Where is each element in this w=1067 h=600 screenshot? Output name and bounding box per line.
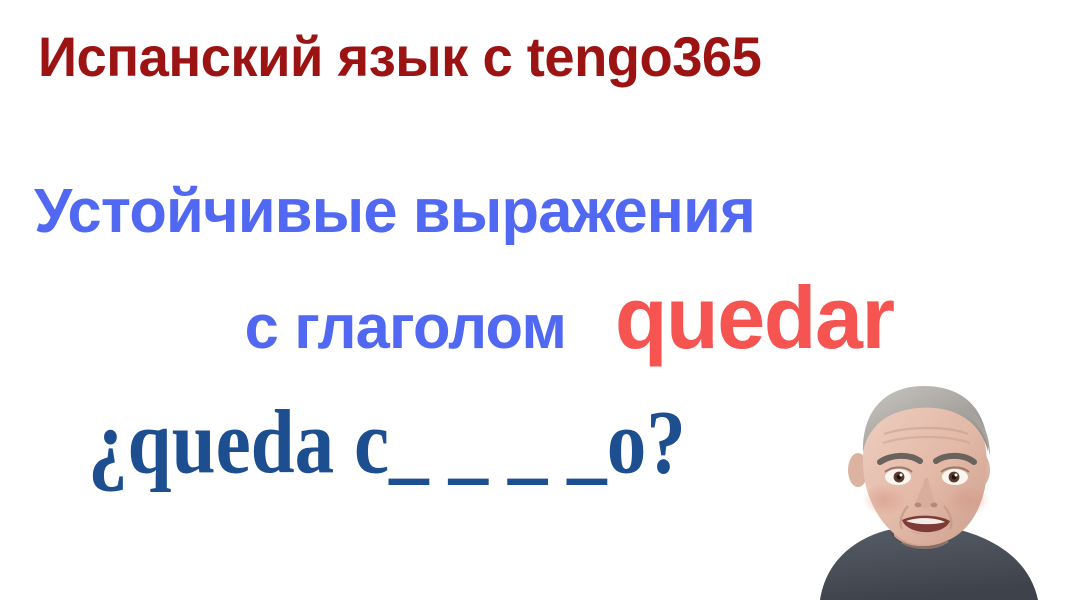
headline-verb-quedar: quedar	[615, 274, 894, 362]
puzzle-question: ¿queda c_ _ _ _o?	[88, 394, 686, 490]
presenter-photo	[784, 378, 1067, 600]
headline-line-1: Устойчивые выражения	[34, 178, 755, 246]
channel-title: Испанский язык с tengo365	[38, 26, 761, 89]
headline-verb-prefix: с глаголом	[245, 297, 566, 359]
presenter-illustration	[784, 378, 1067, 600]
slide-canvas: Испанский язык с tengo365 Устойчивые выр…	[0, 0, 1067, 600]
headline-line-2: с глаголом quedar	[243, 274, 896, 362]
